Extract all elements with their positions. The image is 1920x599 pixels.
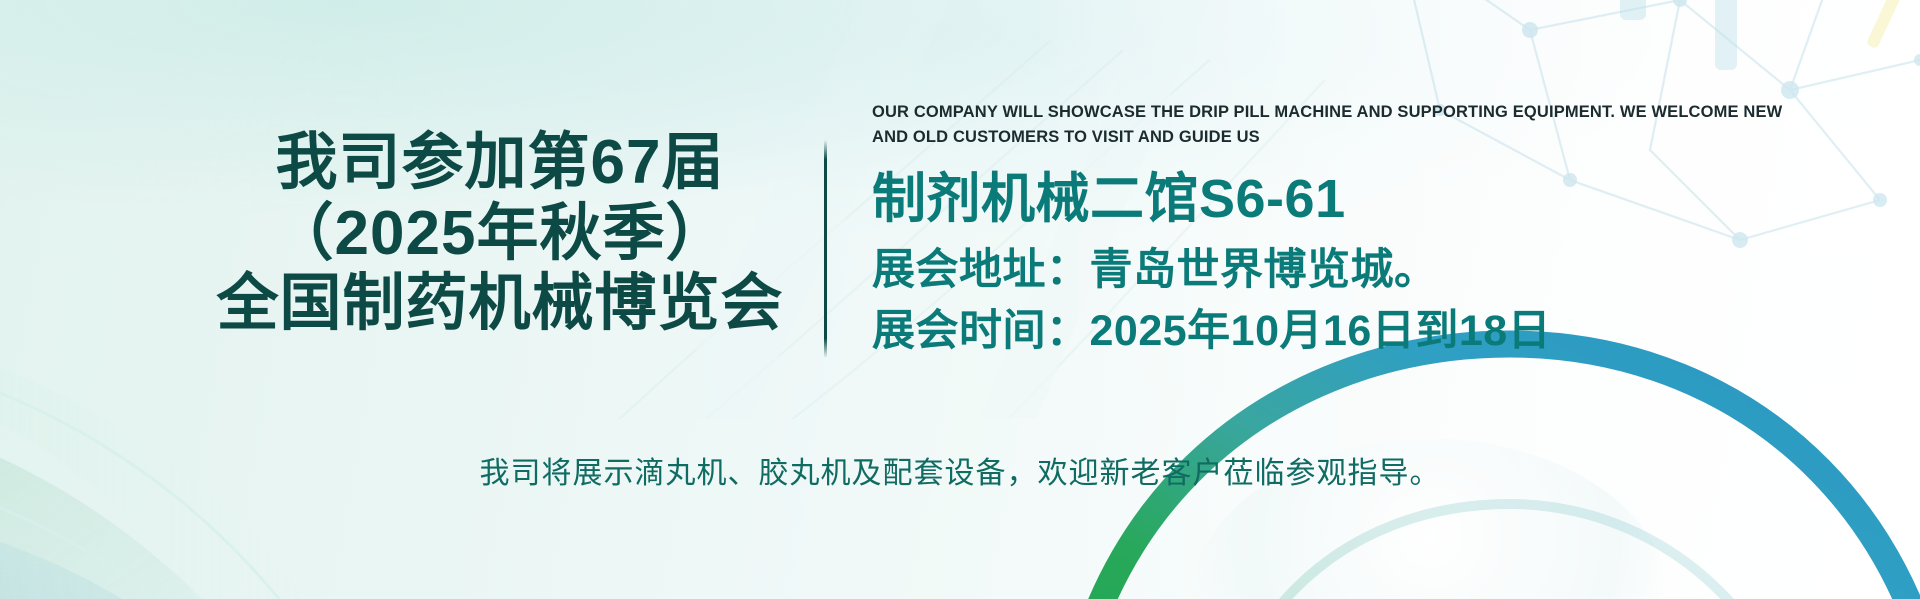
english-description: OUR COMPANY WILL SHOWCASE THE DRIP PILL … [872, 100, 1802, 150]
headline-line-1: 我司参加第67届 [180, 128, 820, 199]
exhibition-date: 展会时间：2025年10月16日到18日 [872, 301, 1872, 362]
vertical-divider [824, 140, 827, 358]
headline-line-2: （2025年秋季） [180, 199, 820, 270]
banner-content: 我司参加第67届 （2025年秋季） 全国制药机械博览会 OUR COMPANY… [0, 0, 1920, 599]
headline-line-3: 全国制药机械博览会 [180, 269, 820, 340]
details-block: OUR COMPANY WILL SHOWCASE THE DRIP PILL … [872, 100, 1872, 362]
headline-block: 我司参加第67届 （2025年秋季） 全国制药机械博览会 [180, 128, 820, 340]
exhibition-address: 展会地址：青岛世界博览城。 [872, 240, 1872, 301]
exhibition-banner: 我司参加第67届 （2025年秋季） 全国制药机械博览会 OUR COMPANY… [0, 0, 1920, 599]
banner-subtitle: 我司将展示滴丸机、胶丸机及配套设备，欢迎新老客户莅临参观指导。 [0, 448, 1920, 492]
booth-number: 制剂机械二馆S6-61 [872, 168, 1872, 232]
